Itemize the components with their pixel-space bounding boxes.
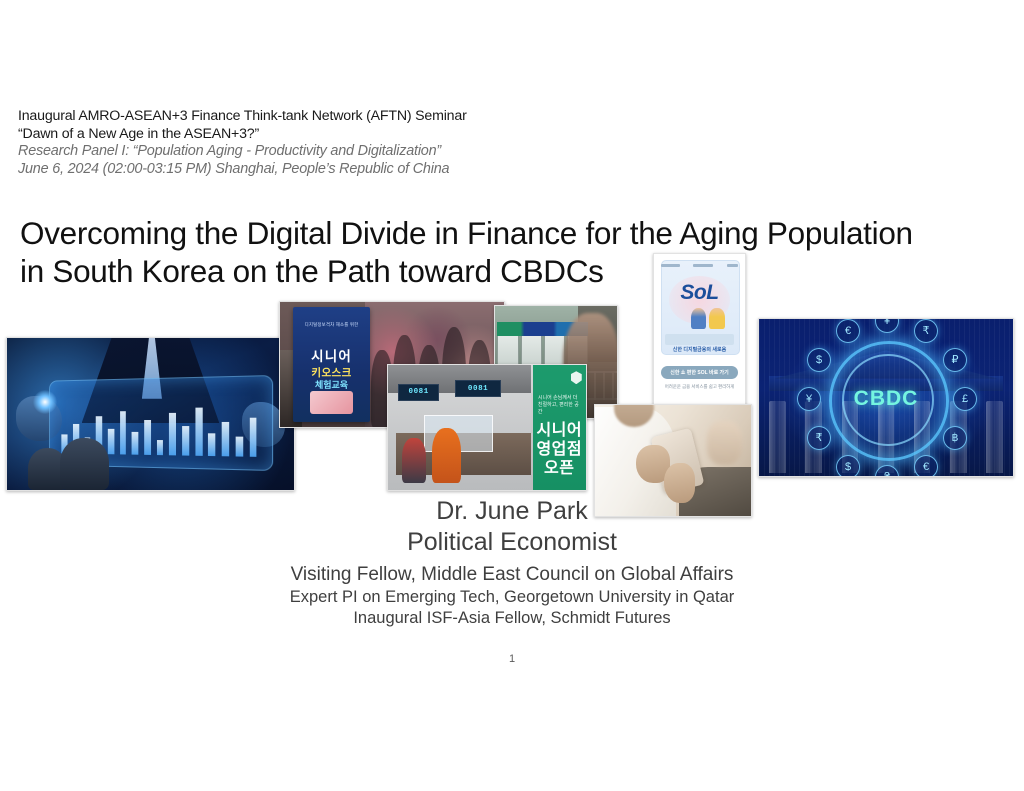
- branch-panel-headline: 시니어 영업점 오픈: [533, 421, 586, 478]
- author-role: Political Economist: [0, 527, 1024, 558]
- kiosk-banner-text-2: 키오스크: [293, 365, 369, 380]
- cbdc-symbol-dollar: $: [836, 455, 860, 477]
- kiosk-banner-text-3: 체험교육: [293, 378, 369, 391]
- sol-app-cta-label: 신한 쇼 편한 SOL 바로 가기: [670, 369, 729, 376]
- sol-status-bar: [661, 260, 737, 271]
- cbdc-bank-photo: CBDC ¥ ₹ ₽ £ ฿ € ₴ $ ₹ ¥ $ €: [758, 318, 1014, 477]
- presentation-slide: Inaugural AMRO-ASEAN+3 Finance Think-tan…: [0, 0, 1024, 791]
- cbdc-symbol-rupee-2: ₹: [807, 426, 831, 450]
- cbdc-symbol-euro: €: [914, 455, 938, 477]
- branch-queue-display-left: 0081: [398, 384, 440, 401]
- kiosk-banner-text-1: 시니어: [293, 345, 369, 365]
- branch-queue-number-left: 0081: [408, 388, 428, 396]
- cbdc-symbol-euro-2: €: [836, 319, 860, 343]
- cbdc-symbol-pound: £: [953, 387, 977, 411]
- sol-character-illustrations: [690, 308, 726, 329]
- cbdc-symbol-ruble: ₽: [943, 348, 967, 372]
- hands-background-person: [707, 421, 741, 465]
- hologram-analytics-photo: [6, 337, 295, 491]
- branch-panel-line-1: 시니어: [533, 421, 586, 440]
- author-name: Dr. June Park: [0, 496, 1024, 527]
- affiliation-line-1: Visiting Fellow, Middle East Council on …: [0, 563, 1024, 587]
- branch-customer-2: [432, 428, 462, 483]
- branch-queue-display-right: 0081: [455, 380, 501, 397]
- senior-branch-photo: 0081 0081 시니어 손님께서 더 친절하고, 편리한 공간 시니어 영업…: [387, 364, 587, 491]
- kiosk-banner-small-text: 디지털정보격차 해소를 위한: [300, 322, 364, 328]
- branch-panel-line-3: 오픈: [533, 459, 586, 478]
- sponsor-logos: MIDDLE EAST COUNCIL ON GLOBAL AFFAIRS جا…: [0, 612, 1024, 692]
- hologram-audience-heads: [21, 438, 136, 490]
- branch-panel-small-text: 시니어 손님께서 더 친절하고, 편리한 공간: [538, 395, 582, 416]
- sol-app-logo: SoL: [654, 281, 745, 305]
- branch-customer-1: [402, 438, 426, 483]
- sol-app-headline: 신한 디지털금융의 새로움: [663, 347, 736, 354]
- sol-app-cta-button: 신한 쇼 편한 SOL 바로 가기: [661, 366, 737, 379]
- branch-queue-number-right: 0081: [468, 385, 488, 393]
- sol-mobile-app-photo: SoL 신한 디지털금융의 새로움 신한 쇼 편한 SOL 바로 가기 어려운운…: [653, 253, 746, 415]
- cbdc-symbol-dollar-2: $: [807, 348, 831, 372]
- senior-branch-green-panel: 시니어 손님께서 더 친절하고, 편리한 공간 시니어 영업점 오픈: [533, 365, 586, 490]
- cbdc-symbol-rupee: ₹: [914, 319, 938, 343]
- author-block: Dr. June Park Political Economist: [0, 496, 1024, 558]
- bank-shield-icon: [571, 371, 582, 384]
- hologram-glow-point: [33, 390, 57, 414]
- affiliation-line-2: Expert PI on Emerging Tech, Georgetown U…: [0, 587, 1024, 608]
- cbdc-symbol-baht: ฿: [943, 426, 967, 450]
- sol-app-footer-text: 어려운운 금융 서비스를 쉽고 편리하게: [661, 384, 737, 390]
- branch-panel-line-2: 영업점: [533, 440, 586, 459]
- cbdc-symbol-yen-2: ¥: [797, 387, 821, 411]
- kiosk-banner-card-graphic: [310, 391, 353, 414]
- kiosk-roll-banner: 디지털정보격차 해소를 위한 시니어 키오스크 체험교육: [293, 307, 369, 422]
- sol-subtext-chip: [665, 334, 734, 345]
